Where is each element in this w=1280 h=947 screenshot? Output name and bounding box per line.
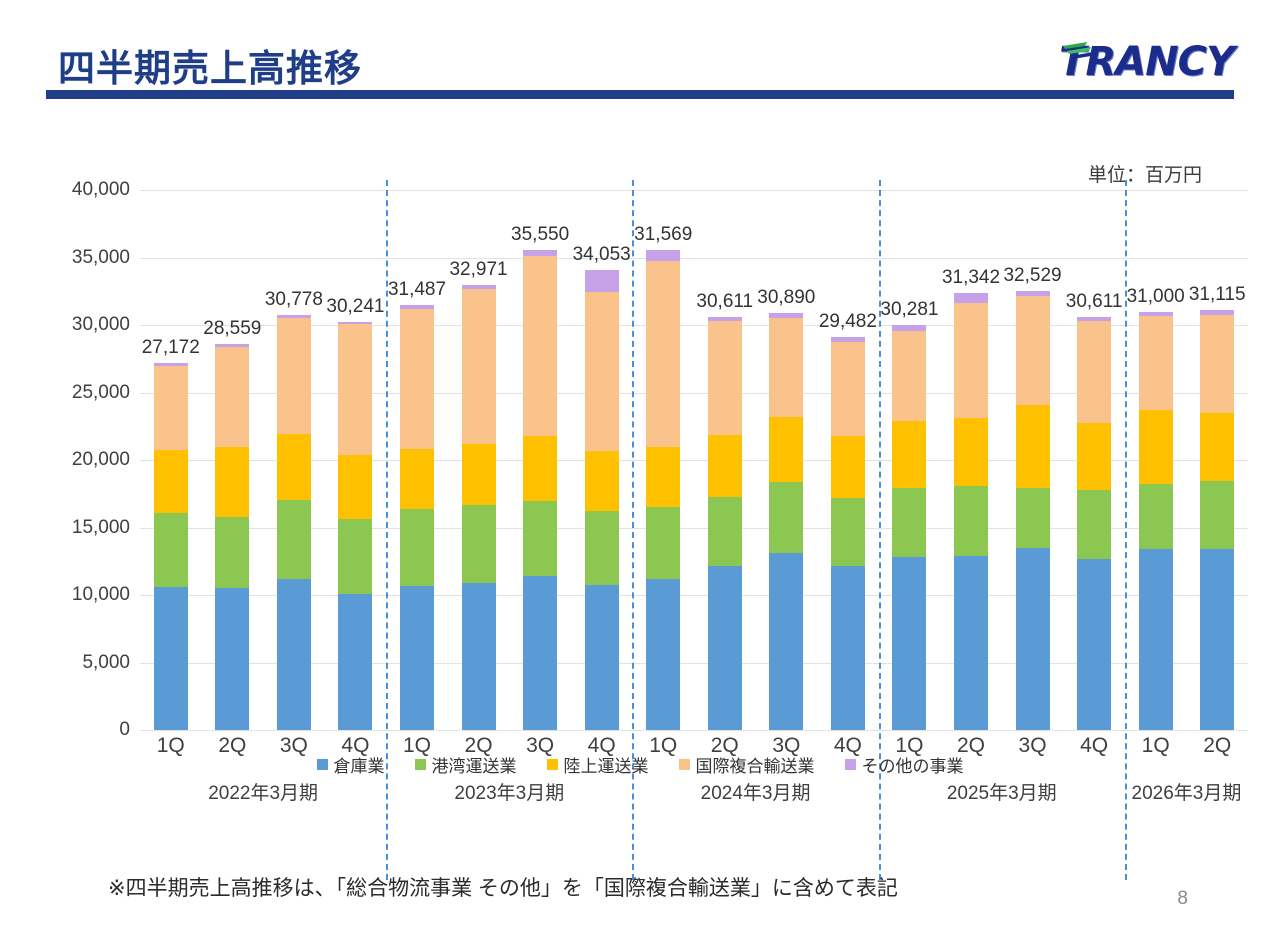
bar-segment-国際複合輸送業 <box>338 324 372 455</box>
bar-total-label: 31,487 <box>388 279 446 301</box>
x-axis-period-label: 2023年3月期 <box>454 778 564 805</box>
bar-segment-港湾運送業 <box>400 509 434 585</box>
trancy-swoosh-icon <box>1061 40 1107 60</box>
bar-segment-倉庫業 <box>831 566 865 730</box>
bar-segment-港湾運送業 <box>954 486 988 556</box>
bar-segment-倉庫業 <box>954 556 988 730</box>
bar-total-label: 31,569 <box>634 224 692 246</box>
bar-segment-倉庫業 <box>277 579 311 730</box>
y-axis-tick-label: 10,000 <box>20 584 130 606</box>
bar-column[interactable]: 30,281 <box>892 325 926 730</box>
bar-segment-陸上運送業 <box>708 435 742 497</box>
title-underline-rule <box>46 90 1234 99</box>
plot-area: 05,00010,00015,00020,00025,00030,00035,0… <box>140 190 1248 730</box>
bar-segment-倉庫業 <box>585 585 619 730</box>
y-axis-tick-label: 35,000 <box>20 247 130 269</box>
bar-column[interactable]: 30,890 <box>769 313 803 730</box>
legend-item-その他の事業[interactable]: その他の事業 <box>845 752 964 777</box>
bar-segment-陸上運送業 <box>277 434 311 499</box>
bar-segment-陸上運送業 <box>154 450 188 513</box>
bar-column[interactable]: 35,550 <box>523 250 557 730</box>
bar-segment-国際複合輸送業 <box>892 331 926 421</box>
bar-segment-陸上運送業 <box>338 455 372 518</box>
bar-segment-港湾運送業 <box>769 482 803 554</box>
bar-segment-国際複合輸送業 <box>400 309 434 449</box>
legend-swatch <box>845 759 856 770</box>
bar-segment-倉庫業 <box>646 579 680 730</box>
page-number: 8 <box>1177 888 1188 910</box>
bar-segment-港湾運送業 <box>1077 490 1111 559</box>
bar-total-label: 35,550 <box>511 224 569 246</box>
bar-segment-国際複合輸送業 <box>523 256 557 436</box>
bar-segment-港湾運送業 <box>154 513 188 587</box>
y-axis-tick-label: 40,000 <box>20 179 130 201</box>
bar-segment-陸上運送業 <box>1200 413 1234 481</box>
bar-segment-その他の事業 <box>585 270 619 292</box>
x-axis-period-label: 2025年3月期 <box>947 778 1057 805</box>
x-axis: 1Q2Q3Q4Q1Q2Q3Q4Q1Q2Q3Q4Q1Q2Q3Q4Q1Q2Q2022… <box>140 730 1248 825</box>
bar-segment-港湾運送業 <box>277 500 311 580</box>
bar-segment-陸上運送業 <box>1016 405 1050 487</box>
bar-column[interactable]: 31,569 <box>646 250 680 730</box>
bar-total-label: 32,971 <box>449 259 507 281</box>
bar-column[interactable]: 32,529 <box>1016 291 1050 730</box>
bar-segment-国際複合輸送業 <box>462 289 496 444</box>
x-axis-period-label: 2022年3月期 <box>208 778 318 805</box>
bar-total-label: 32,529 <box>1003 265 1061 287</box>
slide-header: 四半期売上高推移 TRANCY <box>0 0 1280 112</box>
bar-total-label: 27,172 <box>142 337 200 359</box>
bar-segment-その他の事業 <box>954 293 988 303</box>
bar-segment-港湾運送業 <box>523 501 557 577</box>
bar-segment-倉庫業 <box>1016 548 1050 730</box>
bar-segment-倉庫業 <box>1200 549 1234 730</box>
bar-segment-陸上運送業 <box>1139 410 1173 484</box>
bar-segment-その他の事業 <box>646 250 680 261</box>
legend-item-陸上運送業[interactable]: 陸上運送業 <box>547 752 649 777</box>
y-axis-tick-label: 30,000 <box>20 314 130 336</box>
x-axis-period-label: 2024年3月期 <box>701 778 811 805</box>
bar-segment-国際複合輸送業 <box>585 292 619 451</box>
bar-segment-陸上運送業 <box>400 449 434 509</box>
bar-segment-港湾運送業 <box>585 511 619 585</box>
bar-column[interactable]: 29,482 <box>831 337 865 730</box>
bar-segment-陸上運送業 <box>892 421 926 489</box>
bar-segment-国際複合輸送業 <box>154 366 188 450</box>
legend-label: その他の事業 <box>862 752 964 777</box>
bar-total-label: 29,482 <box>819 311 877 333</box>
chart-legend: 倉庫業港湾運送業陸上運送業国際複合輸送業その他の事業 <box>0 752 1280 777</box>
bar-total-label: 30,778 <box>265 289 323 311</box>
bar-segment-倉庫業 <box>462 583 496 730</box>
bar-segment-港湾運送業 <box>831 498 865 566</box>
bar-segment-国際複合輸送業 <box>954 303 988 418</box>
bar-segment-国際複合輸送業 <box>277 318 311 435</box>
bar-column[interactable]: 30,241 <box>338 322 372 730</box>
bar-segment-国際複合輸送業 <box>769 318 803 417</box>
legend-label: 倉庫業 <box>334 752 385 777</box>
bar-segment-港湾運送業 <box>1139 484 1173 549</box>
bar-segment-陸上運送業 <box>954 418 988 486</box>
bar-column[interactable]: 31,487 <box>400 305 434 730</box>
bar-segment-陸上運送業 <box>523 436 557 501</box>
bar-column[interactable]: 34,053 <box>585 270 619 730</box>
bar-segment-国際複合輸送業 <box>646 261 680 447</box>
bar-total-label: 31,115 <box>1189 284 1246 306</box>
x-axis-period-label: 2026年3月期 <box>1132 778 1242 805</box>
bar-segment-倉庫業 <box>338 594 372 730</box>
bar-segment-陸上運送業 <box>769 417 803 482</box>
legend-item-港湾運送業[interactable]: 港湾運送業 <box>415 752 517 777</box>
bar-column[interactable]: 27,172 <box>154 363 188 730</box>
bar-total-label: 30,611 <box>1066 291 1123 313</box>
bar-segment-国際複合輸送業 <box>1016 296 1050 405</box>
bar-segment-港湾運送業 <box>338 519 372 594</box>
bar-total-label: 30,281 <box>880 299 938 321</box>
bar-segment-国際複合輸送業 <box>708 321 742 435</box>
bar-segment-港湾運送業 <box>1200 481 1234 549</box>
bar-column[interactable]: 31,000 <box>1139 312 1173 730</box>
bar-column[interactable]: 30,611 <box>1077 317 1111 730</box>
y-axis-tick-label: 5,000 <box>20 652 130 674</box>
page-title: 四半期売上高推移 <box>58 38 362 92</box>
bar-segment-倉庫業 <box>708 566 742 730</box>
bar-segment-港湾運送業 <box>1016 488 1050 549</box>
bar-segment-国際複合輸送業 <box>1077 321 1111 423</box>
legend-swatch <box>679 759 690 770</box>
bar-segment-倉庫業 <box>769 553 803 730</box>
legend-swatch <box>547 759 558 770</box>
bar-segment-陸上運送業 <box>462 444 496 505</box>
y-axis-tick-label: 20,000 <box>20 449 130 471</box>
legend-swatch <box>317 759 328 770</box>
bar-total-label: 30,241 <box>326 296 384 318</box>
bar-segment-陸上運送業 <box>831 436 865 498</box>
y-axis-tick-label: 15,000 <box>20 517 130 539</box>
legend-label: 陸上運送業 <box>564 752 649 777</box>
bar-total-label: 30,611 <box>696 291 753 313</box>
legend-label: 港湾運送業 <box>432 752 517 777</box>
y-axis-tick-label: 25,000 <box>20 382 130 404</box>
bar-segment-倉庫業 <box>892 557 926 730</box>
bar-series-group: 27,17228,55930,77830,24131,48732,97135,5… <box>140 190 1248 730</box>
bar-column[interactable]: 31,342 <box>954 293 988 730</box>
bar-segment-倉庫業 <box>1077 559 1111 730</box>
bar-total-label: 28,559 <box>203 318 261 340</box>
bar-segment-港湾運送業 <box>215 517 249 589</box>
legend-swatch <box>415 759 426 770</box>
legend-item-倉庫業[interactable]: 倉庫業 <box>317 752 385 777</box>
bar-total-label: 34,053 <box>573 244 631 266</box>
bar-column[interactable]: 31,115 <box>1200 310 1234 730</box>
bar-segment-倉庫業 <box>523 576 557 730</box>
bar-segment-国際複合輸送業 <box>215 347 249 446</box>
bar-segment-倉庫業 <box>1139 549 1173 730</box>
bar-total-label: 30,890 <box>757 287 815 309</box>
bar-segment-国際複合輸送業 <box>831 342 865 436</box>
unit-label: 単位：百万円 <box>1088 160 1202 187</box>
bar-segment-港湾運送業 <box>646 507 680 580</box>
bar-column[interactable]: 28,559 <box>215 344 249 730</box>
bar-segment-港湾運送業 <box>462 505 496 583</box>
y-axis-tick-label: 0 <box>20 719 130 741</box>
bar-column[interactable]: 30,611 <box>708 317 742 730</box>
bar-segment-倉庫業 <box>400 586 434 730</box>
legend-label: 国際複合輸送業 <box>696 752 815 777</box>
bar-total-label: 31,000 <box>1127 286 1185 308</box>
bar-segment-倉庫業 <box>154 587 188 730</box>
bar-segment-港湾運送業 <box>892 488 926 557</box>
bar-segment-国際複合輸送業 <box>1139 316 1173 411</box>
chart-container: 単位：百万円 05,00010,00015,00020,00025,00030,… <box>0 112 1280 812</box>
bar-segment-倉庫業 <box>215 588 249 730</box>
bar-segment-陸上運送業 <box>646 447 680 506</box>
bar-segment-国際複合輸送業 <box>1200 315 1234 413</box>
bar-column[interactable]: 30,778 <box>277 315 311 730</box>
company-logo: TRANCY <box>1059 38 1234 86</box>
bar-total-label: 31,342 <box>942 267 1000 289</box>
bar-segment-陸上運送業 <box>585 451 619 511</box>
footnote-text: ※四半期売上高推移は、「総合物流事業 その他」を「国際複合輸送業」に含めて表記 <box>108 872 898 902</box>
bar-segment-港湾運送業 <box>708 497 742 566</box>
bar-segment-陸上運送業 <box>1077 423 1111 490</box>
bar-segment-陸上運送業 <box>215 447 249 517</box>
bar-column[interactable]: 32,971 <box>462 285 496 730</box>
legend-item-国際複合輸送業[interactable]: 国際複合輸送業 <box>679 752 815 777</box>
